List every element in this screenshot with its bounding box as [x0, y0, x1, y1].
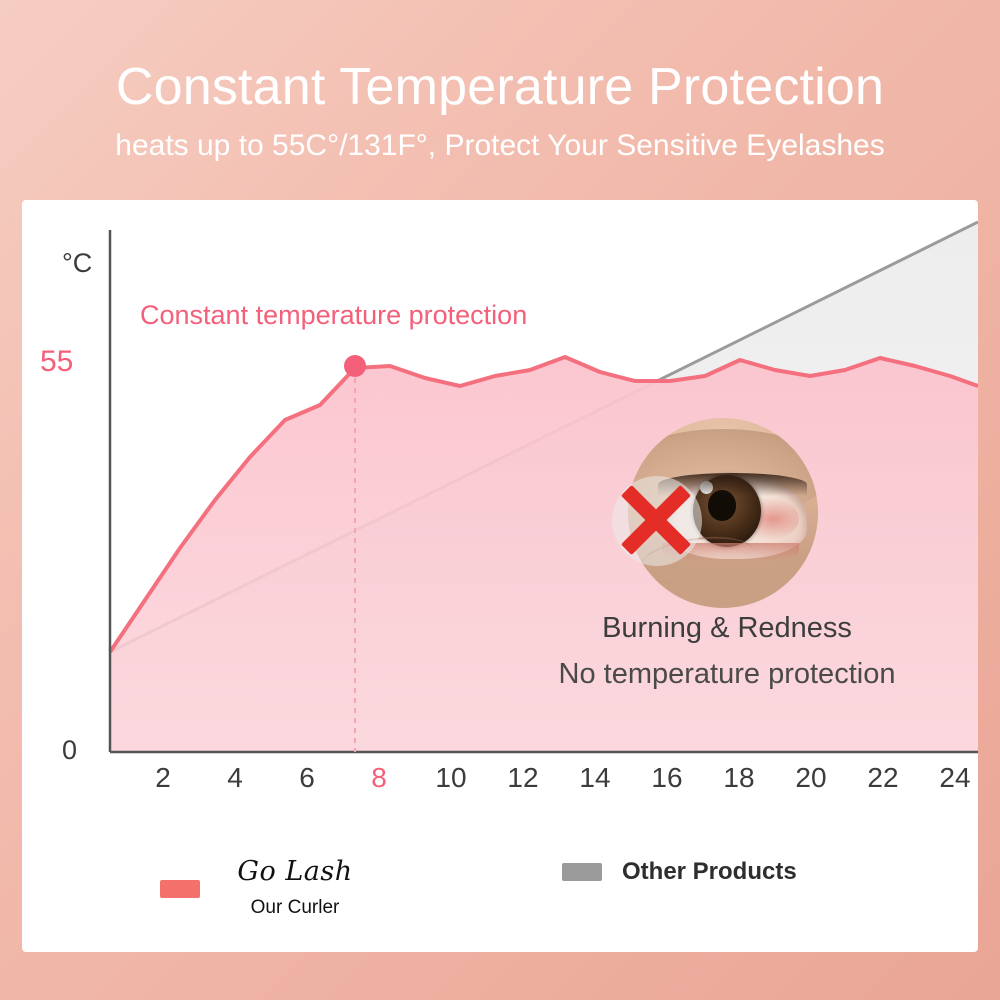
- x-tick-20: 20: [795, 762, 826, 794]
- legend-swatch-ours: [160, 880, 200, 898]
- x-tick-16: 16: [651, 762, 682, 794]
- legend-item-ours: Go Lash Our Curler: [160, 858, 370, 919]
- x-tick-24: 24: [939, 762, 970, 794]
- x-tick-22: 22: [867, 762, 898, 794]
- page-title: Constant Temperature Protection: [0, 58, 1000, 118]
- x-tick-2: 2: [155, 762, 171, 794]
- y-tick-55: 55: [40, 345, 73, 379]
- x-tick-4: 4: [227, 762, 243, 794]
- series-area-ours: [110, 357, 978, 752]
- chart-svg: [22, 200, 978, 800]
- marker-point: [344, 355, 366, 377]
- x-tick-12: 12: [507, 762, 538, 794]
- y-axis-unit-label: °C: [62, 248, 92, 279]
- chart-annotation-constant: Constant temperature protection: [140, 300, 527, 331]
- x-axis-tick-labels: 2 4 6 8 10 12 14 16 18 20 22 24: [22, 762, 978, 810]
- x-tick-14: 14: [579, 762, 610, 794]
- chart-legend: Go Lash Our Curler Other Products: [22, 848, 978, 948]
- legend-swatch-other: [562, 863, 602, 881]
- page-subtitle: heats up to 55C°/131F°, Protect Your Sen…: [0, 128, 1000, 164]
- legend-label-other: Other Products: [622, 858, 797, 886]
- chart-card: °C 55 0 Constant temperature protection …: [22, 200, 978, 952]
- legend-brand-block: Go Lash Our Curler: [220, 858, 370, 919]
- poster-root: Constant Temperature Protection heats up…: [0, 0, 1000, 1000]
- x-tick-8: 8: [371, 762, 387, 794]
- warning-title: Burning & Redness: [582, 612, 872, 645]
- x-tick-6: 6: [299, 762, 315, 794]
- header: Constant Temperature Protection heats up…: [0, 58, 1000, 164]
- legend-label-ours: Our Curler: [220, 897, 370, 919]
- legend-item-other: Other Products: [562, 858, 797, 886]
- red-x-icon: [614, 478, 698, 562]
- brand-logo-text: Go Lash: [237, 856, 352, 887]
- temperature-chart: °C 55 0 Constant temperature protection …: [22, 200, 978, 800]
- x-tick-10: 10: [435, 762, 466, 794]
- warning-subtitle: No temperature protection: [522, 658, 932, 691]
- x-tick-18: 18: [723, 762, 754, 794]
